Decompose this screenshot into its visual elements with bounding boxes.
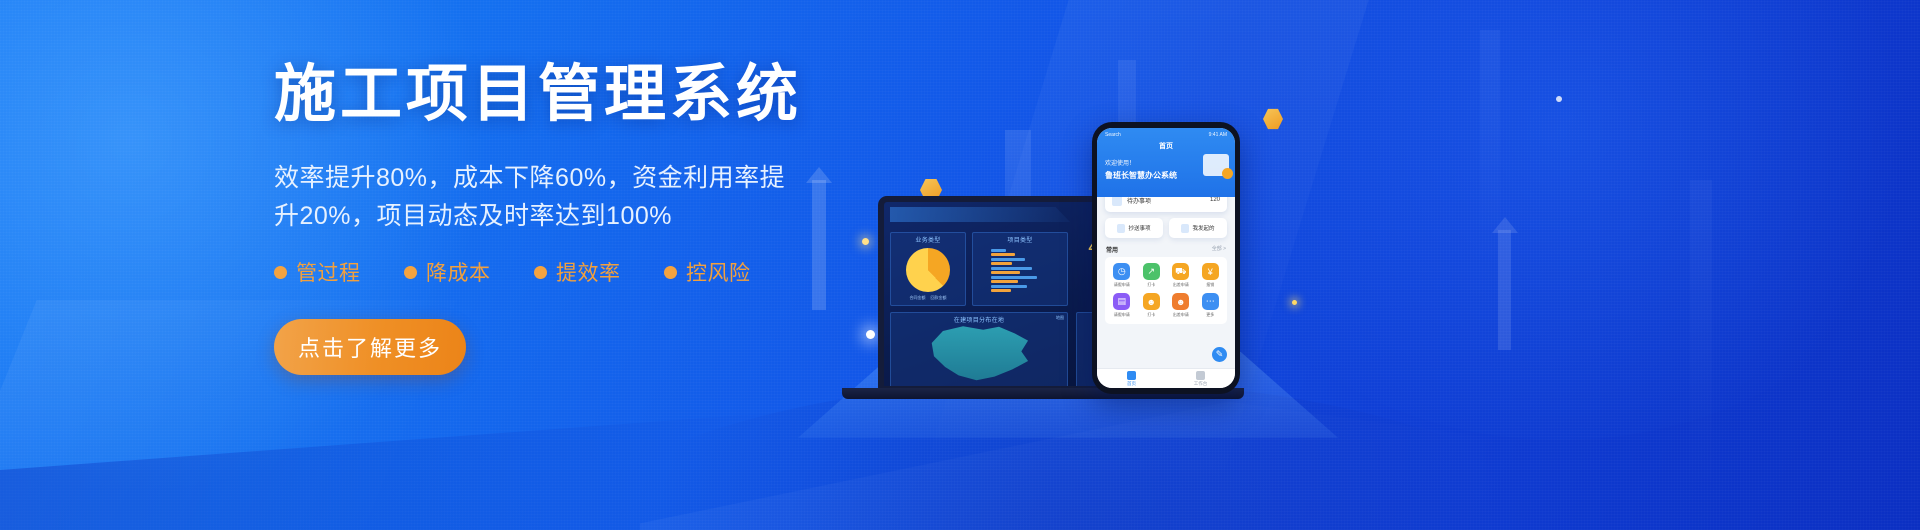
tab-home[interactable]: 首页	[1097, 371, 1166, 387]
bar-item	[991, 262, 1012, 265]
pie-legend-0: 合同金额	[910, 295, 926, 301]
phone-screen: Search 9:41 AM 首页 欢迎使用！ 鲁班长智慧办公系统 待办事项 1…	[1097, 128, 1235, 388]
bar-item	[991, 249, 1006, 252]
bar-item	[991, 258, 1025, 261]
quick-action-label: 我发起的	[1192, 224, 1214, 232]
app-icon: ⛟	[1172, 263, 1189, 280]
feature-tag-1: 降成本	[404, 257, 534, 287]
bullet-dot-icon	[404, 266, 417, 279]
feature-tag-label: 提效率	[556, 257, 621, 287]
bar-item	[991, 289, 1011, 292]
header-illustration-badge	[1222, 168, 1233, 179]
quick-action-mine[interactable]: 我发起的	[1169, 218, 1227, 238]
app-label: 打卡	[1138, 312, 1166, 318]
app-icon: ◷	[1113, 263, 1130, 280]
app-icon: ¥	[1202, 263, 1219, 280]
panel-title: 业务类型	[891, 233, 965, 244]
tab-label: 首页	[1127, 381, 1136, 386]
workbench-icon	[1196, 371, 1205, 380]
quick-action-cc[interactable]: 抄送事项	[1105, 218, 1163, 238]
home-icon	[1127, 371, 1136, 380]
app-grid-item[interactable]: ¥报销	[1197, 263, 1225, 288]
status-carrier: Search	[1105, 132, 1121, 138]
app-grid-item[interactable]: ☻打卡	[1138, 293, 1166, 318]
status-time: 9:41 AM	[1209, 132, 1227, 138]
phone-mockup: Search 9:41 AM 首页 欢迎使用！ 鲁班长智慧办公系统 待办事项 1…	[1092, 122, 1240, 394]
panel-business-type: 业务类型 合同金额 回款金额	[890, 232, 966, 306]
app-grid: ◷请假申请↗打卡⛟出差申请¥报销▤请假申请☻打卡☻出差申请⋯更多	[1105, 257, 1227, 324]
up-arrow-icon-2	[1498, 230, 1511, 350]
tab-label: 工作台	[1194, 381, 1208, 386]
common-section-header: 常用 全部 >	[1106, 245, 1226, 254]
sparkle-dot-5	[1556, 96, 1562, 102]
phone-nav-title: 首页	[1105, 141, 1227, 151]
compose-fab-button[interactable]: ✎	[1212, 347, 1227, 362]
section-more-link[interactable]: 全部 >	[1212, 245, 1226, 254]
promo-banner: 施工项目管理系统 效率提升80%，成本下降60%，资金利用率提升20%，项目动态…	[0, 0, 1920, 530]
quick-action-row: 抄送事项 我发起的	[1105, 218, 1227, 238]
app-grid-item[interactable]: ⛟出差申请	[1167, 263, 1195, 288]
bar-item	[991, 280, 1018, 283]
feature-tag-label: 控风险	[686, 257, 751, 287]
quick-action-label: 抄送事项	[1128, 224, 1150, 232]
plus-doc-icon	[1181, 224, 1189, 233]
app-label: 更多	[1197, 312, 1225, 318]
learn-more-button[interactable]: 点击了解更多	[274, 319, 466, 375]
pillar-4	[1690, 180, 1712, 500]
todo-count: 120	[1210, 197, 1220, 203]
feature-tag-2: 提效率	[534, 257, 664, 287]
app-icon: ☻	[1143, 293, 1160, 310]
app-icon: ▤	[1113, 293, 1130, 310]
subtitle-text: 效率提升80%，成本下降60%，资金利用率提升20%，项目动态及时率达到100%	[274, 159, 794, 235]
feature-tag-3: 控风险	[664, 257, 794, 287]
panel-project-map: 在建项目分布在地 地图	[890, 312, 1068, 390]
china-map	[925, 325, 1037, 385]
tab-workbench[interactable]: 工作台	[1166, 371, 1235, 387]
feature-tag-list: 管过程 降成本 提效率 控风险	[274, 257, 794, 287]
bullet-dot-icon	[664, 266, 677, 279]
bar-item	[991, 285, 1027, 288]
map-badge: 地图	[1056, 315, 1064, 321]
app-icon: ☻	[1172, 293, 1189, 310]
app-icon: ⋯	[1202, 293, 1219, 310]
pie-chart	[906, 248, 950, 292]
app-grid-item[interactable]: ◷请假申请	[1108, 263, 1136, 288]
section-title: 常用	[1106, 245, 1118, 254]
bar-item	[991, 253, 1015, 256]
app-label: 请假申请	[1108, 282, 1136, 288]
bar-item	[991, 276, 1037, 279]
device-mockup-group: 市场管理报表 业务类型 合同金额 回款金额	[790, 0, 1450, 530]
horizontal-bar-chart	[973, 244, 1067, 292]
app-label: 出差申请	[1167, 282, 1195, 288]
phone-tab-bar: 首页 工作台	[1097, 368, 1235, 388]
app-label: 打卡	[1138, 282, 1166, 288]
panel-title: 在建项目分布在地	[891, 313, 1067, 324]
send-icon	[1117, 224, 1125, 233]
bullet-dot-icon	[274, 266, 287, 279]
app-grid-item[interactable]: ▤请假申请	[1108, 293, 1136, 318]
app-icon: ↗	[1143, 263, 1160, 280]
app-label: 请假申请	[1108, 312, 1136, 318]
app-grid-item[interactable]: ↗打卡	[1138, 263, 1166, 288]
pie-legend-1: 回款金额	[931, 295, 947, 301]
panel-project-type: 项目类型	[972, 232, 1068, 306]
feature-tag-0: 管过程	[274, 257, 404, 287]
bar-item	[991, 271, 1020, 274]
app-label: 报销	[1197, 282, 1225, 288]
app-grid-item[interactable]: ⋯更多	[1197, 293, 1225, 318]
phone-header: Search 9:41 AM 首页 欢迎使用！ 鲁班长智慧办公系统	[1097, 128, 1235, 197]
feature-tag-label: 降成本	[426, 257, 491, 287]
bullet-dot-icon	[534, 266, 547, 279]
bar-item	[991, 267, 1032, 270]
feature-tag-label: 管过程	[296, 257, 361, 287]
panel-title: 项目类型	[973, 233, 1067, 244]
phone-status-bar: Search 9:41 AM	[1105, 132, 1227, 138]
app-grid-item[interactable]: ☻出差申请	[1167, 293, 1195, 318]
pillar-3	[1480, 30, 1500, 270]
app-label: 出差申请	[1167, 312, 1195, 318]
